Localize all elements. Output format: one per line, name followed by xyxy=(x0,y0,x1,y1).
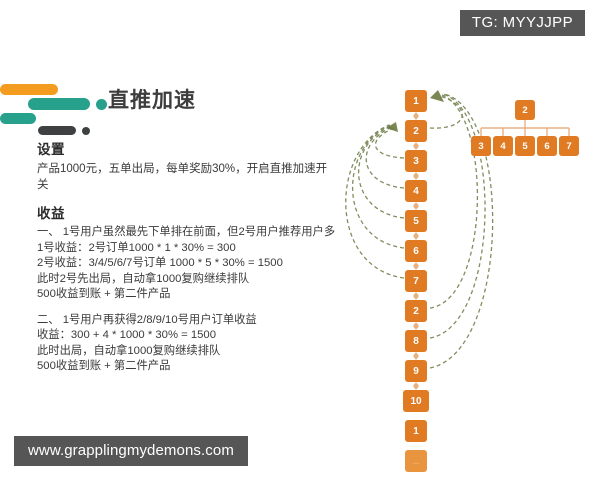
revenue-line: 二、 1号用户再获得2/8/9/10号用户订单收益 xyxy=(37,313,337,329)
site-url-watermark: www.grapplingmydemons.com xyxy=(14,436,248,466)
queue-node[interactable]: 1 xyxy=(405,90,427,112)
queue-node[interactable]: 8 xyxy=(405,330,427,352)
queue-node[interactable]: 1 xyxy=(405,420,427,442)
revenue-line: 此时2号先出局，自动拿1000复购继续排队 xyxy=(37,272,337,288)
page-title: 直推加速 xyxy=(108,84,196,114)
referral-arrowheads-to-node-2 xyxy=(386,122,398,132)
tree-child-node[interactable]: 4 xyxy=(493,136,513,156)
queue-node[interactable]: 2 xyxy=(405,120,427,142)
content-column: 设置 产品1000元，五单出局，每单奖励30%，开启直推加速开关 收益 一、 1… xyxy=(37,138,337,375)
tree-connectors xyxy=(481,120,569,136)
tree-root-node[interactable]: 2 xyxy=(515,100,535,120)
logo-bar-dark xyxy=(38,126,76,135)
logo-bar-teal-short xyxy=(0,113,36,124)
decorative-logo-mark xyxy=(0,84,100,132)
tg-watermark-badge: TG: MYYJJPP xyxy=(460,10,585,36)
revenue-line: 此时出局，自动拿1000复购继续排队 xyxy=(37,344,337,360)
tree-child-node[interactable]: 3 xyxy=(471,136,491,156)
queue-node[interactable]: 3 xyxy=(405,150,427,172)
settings-heading: 设置 xyxy=(37,138,337,158)
revenue-block-one: 一、 1号用户虽然最先下单排在前面，但2号用户推荐用户多 1号收益：2号订单10… xyxy=(37,225,337,303)
logo-bar-teal-long xyxy=(28,98,90,110)
revenue-heading: 收益 xyxy=(37,202,337,222)
revenue-line: 500收益到账 + 第二件产品 xyxy=(37,287,337,303)
revenue-line: 收益：300 + 4 * 1000 * 30% = 1500 xyxy=(37,328,337,344)
queue-node[interactable]: 2 xyxy=(405,300,427,322)
tree-child-node[interactable]: 7 xyxy=(559,136,579,156)
queue-node[interactable]: 9 xyxy=(405,360,427,382)
logo-dot-dark xyxy=(82,127,90,135)
queue-node[interactable]: 4 xyxy=(405,180,427,202)
revenue-line: 500收益到账 + 第二件产品 xyxy=(37,359,337,375)
revenue-line: 一、 1号用户虽然最先下单排在前面，但2号用户推荐用户多 xyxy=(37,225,337,241)
referral-arrowheads-to-node-1 xyxy=(430,90,444,102)
queue-node[interactable]: 5 xyxy=(405,210,427,232)
tree-child-node[interactable]: 5 xyxy=(515,136,535,156)
settings-text: 产品1000元，五单出局，每单奖励30%，开启直推加速开关 xyxy=(37,161,337,193)
queue-node[interactable]: 7 xyxy=(405,270,427,292)
queue-node[interactable]: 6 xyxy=(405,240,427,262)
revenue-line: 1号收益：2号订单1000 * 1 * 30% = 300 xyxy=(37,241,337,257)
referral-queue-diagram: 1 2 3 4 5 6 7 2 8 9 10 1 ... 2 3 4 5 6 7 xyxy=(340,70,600,410)
tree-child-node[interactable]: 6 xyxy=(537,136,557,156)
queue-node-overflow[interactable]: ... xyxy=(405,450,427,472)
referral-arcs-to-node-2 xyxy=(346,125,404,278)
diagram-connectors xyxy=(340,70,600,410)
revenue-line: 2号收益：3/4/5/6/7号订单 1000 * 5 * 30% = 1500 xyxy=(37,256,337,272)
revenue-block-two: 二、 1号用户再获得2/8/9/10号用户订单收益 收益：300 + 4 * 1… xyxy=(37,313,337,375)
logo-bar-orange xyxy=(0,84,58,95)
queue-node[interactable]: 10 xyxy=(403,390,429,412)
logo-dot-teal xyxy=(96,99,107,110)
